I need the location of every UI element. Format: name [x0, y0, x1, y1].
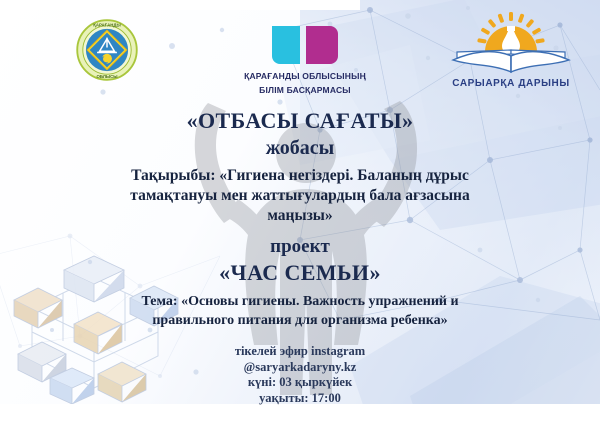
kk-theme-line-1: Тақырыбы: «Гигиена негіздері. Баланың дұ… [100, 166, 500, 186]
two-books-icon [268, 22, 342, 68]
karaganda-region-akimat-emblem-icon: ҚАРАҒАНДЫ ОБЛЫСЫ [76, 19, 138, 81]
kk-theme: Тақырыбы: «Гигиена негіздері. Баланың дұ… [100, 166, 500, 226]
instagram-handle[interactable]: @saryarkadaryny.kz [0, 360, 600, 376]
logo-caption-saryarka: САРЫАРҚА ДАРЫНЫ [436, 78, 586, 89]
poster-text-block: «ОТБАСЫ САҒАТЫ» жобасы Тақырыбы: «Гигиен… [0, 108, 600, 406]
svg-text:ҚАРАҒАНДЫ: ҚАРАҒАНДЫ [93, 22, 120, 27]
karaganda-education-department-logo: ҚАРАҒАНДЫ ОБЛЫСЫНЫҢ БІЛІМ БАСҚАРМАСЫ [238, 22, 372, 94]
kk-theme-line-3: маңызы» [100, 206, 500, 226]
svg-text:ОБЛЫСЫ: ОБЛЫСЫ [96, 74, 117, 79]
ru-project-title: «ЧАС СЕМЬИ» [0, 260, 600, 286]
poster-canvas: ҚАРАҒАНДЫ ОБЛЫСЫ ҚАРАҒАНДЫ ОБЛЫСЫНЫҢ БІЛ… [0, 0, 600, 436]
ru-theme-line-1: Тема: «Основы гигиены. Важность упражнен… [90, 292, 510, 311]
event-time: уақыты: 17:00 [0, 391, 600, 407]
broadcast-line: тікелей эфир instagram [0, 344, 600, 360]
saryarka-daryny-logo: САРЫАРҚА ДАРЫНЫ [436, 12, 586, 96]
kk-project-title: «ОТБАСЫ САҒАТЫ» [0, 108, 600, 134]
ru-theme-line-2: правильного питания для организма ребенк… [90, 311, 510, 330]
ru-project-word: проект [0, 235, 600, 259]
kk-project-word: жобасы [0, 136, 600, 160]
logo-caption-line1: ҚАРАҒАНДЫ ОБЛЫСЫНЫҢ [238, 71, 372, 82]
ru-theme: Тема: «Основы гигиены. Важность упражнен… [90, 292, 510, 330]
logo-caption-line2: БІЛІМ БАСҚАРМАСЫ [238, 85, 372, 96]
sun-and-open-book-icon [441, 12, 581, 76]
kk-theme-line-2: тамақтануы мен жаттығулардың бала ағзасы… [100, 186, 500, 206]
event-date: күні: 03 қыркүйек [0, 375, 600, 391]
bottom-white-strip [0, 404, 600, 436]
broadcast-details: тікелей эфир instagram @saryarkadaryny.k… [0, 344, 600, 406]
logo-row: ҚАРАҒАНДЫ ОБЛЫСЫ ҚАРАҒАНДЫ ОБЛЫСЫНЫҢ БІЛ… [0, 0, 600, 104]
